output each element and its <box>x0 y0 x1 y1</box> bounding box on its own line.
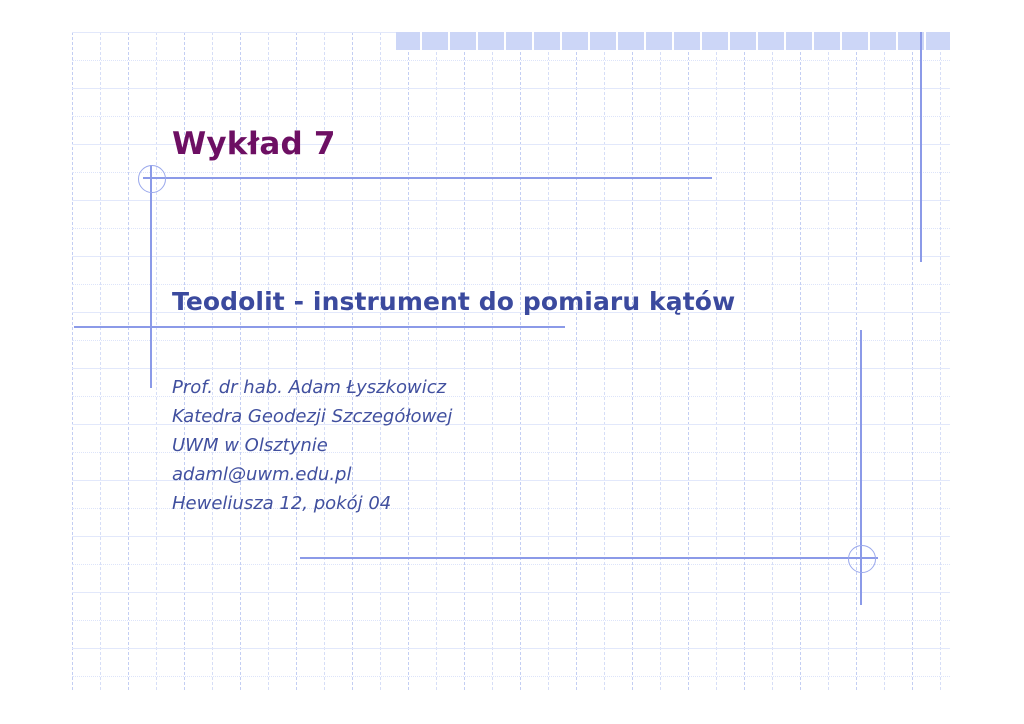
grid-line-vertical <box>828 32 829 690</box>
grid-line-vertical <box>884 32 885 690</box>
title-underline-rule <box>143 177 712 179</box>
author-line: adaml@uwm.edu.pl <box>172 460 452 489</box>
page-title: Wykład 7 <box>172 126 336 162</box>
author-info-block: Prof. dr hab. Adam ŁyszkowiczKatedra Geo… <box>172 373 452 518</box>
crosshair-circle-top-left <box>138 165 166 193</box>
band-separator-tick <box>728 32 730 50</box>
grid-line-vertical <box>352 32 353 690</box>
band-separator-tick <box>448 32 450 50</box>
band-separator-tick <box>644 32 646 50</box>
band-separator-tick <box>616 32 618 50</box>
grid-line-vertical <box>380 32 381 690</box>
band-separator-tick <box>588 32 590 50</box>
grid-line-vertical <box>800 32 801 690</box>
grid-line-horizontal <box>72 536 950 537</box>
grid-line-vertical <box>856 32 857 690</box>
crosshair-circle-bottom-right <box>848 545 876 573</box>
header-color-band <box>396 32 950 50</box>
band-separator-tick <box>560 32 562 50</box>
grid-line-vertical <box>128 32 129 690</box>
band-separator-tick <box>504 32 506 50</box>
grid-line-horizontal <box>72 200 950 201</box>
grid-line-vertical <box>912 32 913 690</box>
band-separator-tick <box>476 32 478 50</box>
grid-line-vertical <box>940 32 941 690</box>
grid-line-horizontal <box>72 592 950 593</box>
author-line: Heweliusza 12, pokój 04 <box>172 489 452 518</box>
grid-line-vertical <box>576 32 577 690</box>
presentation-slide: Wykład 7 Teodolit - instrument do pomiar… <box>0 0 1024 724</box>
grid-line-vertical <box>660 32 661 690</box>
grid-line-vertical <box>492 32 493 690</box>
band-separator-tick <box>532 32 534 50</box>
band-separator-tick <box>896 32 898 50</box>
slide-subtitle: Teodolit - instrument do pomiaru kątów <box>172 287 735 316</box>
grid-line-horizontal <box>72 648 950 649</box>
band-separator-tick <box>840 32 842 50</box>
subtitle-underline-rule <box>74 326 565 328</box>
grid-line-horizontal <box>72 620 950 621</box>
title-vertical-rule <box>150 165 152 388</box>
grid-line-vertical <box>520 32 521 690</box>
grid-line-horizontal <box>72 676 950 677</box>
band-separator-tick <box>784 32 786 50</box>
author-line: UWM w Olsztynie <box>172 431 452 460</box>
grid-line-vertical <box>688 32 689 690</box>
footer-rule <box>300 557 878 559</box>
band-vertical-rule <box>920 32 922 262</box>
grid-line-vertical <box>604 32 605 690</box>
author-line: Prof. dr hab. Adam Łyszkowicz <box>172 373 452 402</box>
grid-line-horizontal <box>72 256 950 257</box>
author-line: Katedra Geodezji Szczegółowej <box>172 402 452 431</box>
grid-line-vertical <box>744 32 745 690</box>
band-separator-tick <box>868 32 870 50</box>
grid-line-vertical <box>408 32 409 690</box>
grid-line-vertical <box>772 32 773 690</box>
band-separator-tick <box>756 32 758 50</box>
grid-line-vertical <box>100 32 101 690</box>
band-separator-tick <box>700 32 702 50</box>
grid-line-horizontal <box>72 60 950 61</box>
band-separator-tick <box>672 32 674 50</box>
grid-line-horizontal <box>72 564 950 565</box>
grid-line-horizontal <box>72 228 950 229</box>
grid-line-horizontal <box>72 172 950 173</box>
grid-line-vertical <box>464 32 465 690</box>
grid-line-horizontal <box>72 368 950 369</box>
grid-line-horizontal <box>72 88 950 89</box>
grid-line-horizontal <box>72 116 950 117</box>
grid-line-vertical <box>632 32 633 690</box>
band-separator-tick <box>812 32 814 50</box>
band-separator-tick <box>924 32 926 50</box>
band-separator-tick <box>420 32 422 50</box>
grid-line-vertical <box>716 32 717 690</box>
grid-line-vertical <box>156 32 157 690</box>
grid-line-horizontal <box>72 284 950 285</box>
grid-line-vertical <box>548 32 549 690</box>
grid-line-horizontal <box>72 340 950 341</box>
grid-line-vertical <box>72 32 73 690</box>
grid-line-vertical <box>436 32 437 690</box>
